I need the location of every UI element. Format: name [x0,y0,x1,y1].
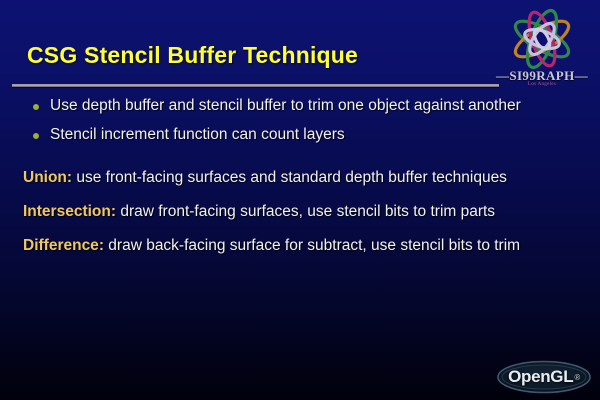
bullet-dot-icon [33,133,39,139]
siggraph-rings-icon [498,8,586,70]
paragraph-union: Union: use front-facing surfaces and sta… [0,167,600,188]
paragraph-text: use front-facing surfaces and standard d… [72,169,507,186]
section-spacer [0,188,600,201]
opengl-logo: OpenGL® [496,360,592,394]
bullet-item-text: Use depth buffer and stencil buffer to t… [50,97,521,114]
slide-title: CSG Stencil Buffer Technique [27,42,358,69]
opengl-wordmark: OpenGL [508,367,573,387]
opengl-trademark: ® [574,373,580,382]
paragraph-intersection: Intersection: draw front-facing surfaces… [0,201,600,222]
paragraph-keyword: Union [23,169,67,186]
paragraph-text: draw front-facing surfaces, use stencil … [116,203,495,220]
paragraph-keyword: Difference [23,237,99,254]
bullet-item: Use depth buffer and stencil buffer to t… [0,96,600,116]
siggraph-subtitle: Los Angeles [490,82,594,87]
bullet-dot-icon [33,104,39,110]
paragraph-difference: Difference: draw back-facing surface for… [0,235,600,256]
slide-body: Use depth buffer and stencil buffer to t… [0,96,600,256]
opengl-label: OpenGL® [496,360,592,394]
paragraph-keyword: Intersection [23,203,111,220]
bullet-item-text: Stencil increment function can count lay… [50,126,345,143]
title-divider [12,84,499,87]
slide-canvas: —SI99RAPH— Los Angeles CSG Stencil Buffe… [0,0,600,400]
paragraph-text: draw back-facing surface for subtract, u… [104,237,520,254]
bullet-item: Stencil increment function can count lay… [0,125,600,145]
section-spacer [0,222,600,235]
section-spacer [0,154,600,167]
siggraph-logo: —SI99RAPH— Los Angeles [490,8,594,94]
